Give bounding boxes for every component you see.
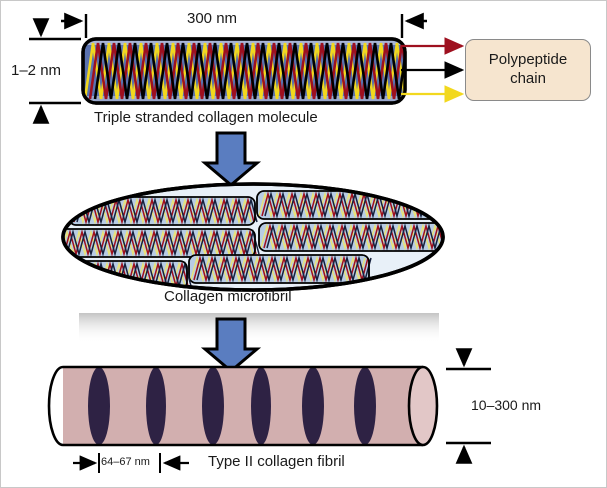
microfibril-molecule-2 xyxy=(257,191,439,219)
collagen-structure-figure: 300 nm 1–2 nm Triple stranded collagen m… xyxy=(0,0,607,488)
microfibril-molecule-3 xyxy=(59,229,259,257)
polypeptide-callout-arrows xyxy=(401,46,462,94)
fibril-band-2 xyxy=(146,367,166,445)
polypeptide-chain-label-line1: Polypeptide xyxy=(489,51,567,68)
polypeptide-chain-label-line2: chain xyxy=(510,70,546,87)
caption-collagen-fibril: Type II collagen fibril xyxy=(208,453,345,470)
fibril-band-3 xyxy=(202,367,224,445)
microfibril-molecule-4 xyxy=(259,223,447,251)
process-arrow-molecule-to-microfibril xyxy=(205,133,257,185)
microfibril-shadow xyxy=(79,313,439,343)
fibril-band-1 xyxy=(88,367,110,445)
collagen-molecule-body xyxy=(83,39,415,103)
polypeptide-chain-callout-box: Polypeptidechain xyxy=(465,39,591,101)
label-banding-period: 64–67 nm xyxy=(101,456,150,469)
microfibril-molecule-5 xyxy=(189,255,371,283)
dimension-300nm xyxy=(61,14,427,38)
collagen-microfibril-body xyxy=(59,184,447,290)
fibril-band-4 xyxy=(251,367,271,445)
label-fibril-diameter: 10–300 nm xyxy=(471,397,541,413)
caption-collagen-molecule: Triple stranded collagen molecule xyxy=(94,109,318,126)
label-molecule-diameter: 1–2 nm xyxy=(11,62,61,79)
fibril-end-cap xyxy=(409,367,437,445)
fibril-band-5 xyxy=(302,367,324,445)
label-molecule-length: 300 nm xyxy=(187,10,237,27)
microfibril-molecule-1 xyxy=(69,197,257,225)
fibril-band-6 xyxy=(354,367,376,445)
collagen-fibril-body xyxy=(49,367,437,445)
caption-collagen-microfibril: Collagen microfibril xyxy=(164,288,292,305)
polypeptide-chain-label: Polypeptidechain xyxy=(489,51,567,89)
